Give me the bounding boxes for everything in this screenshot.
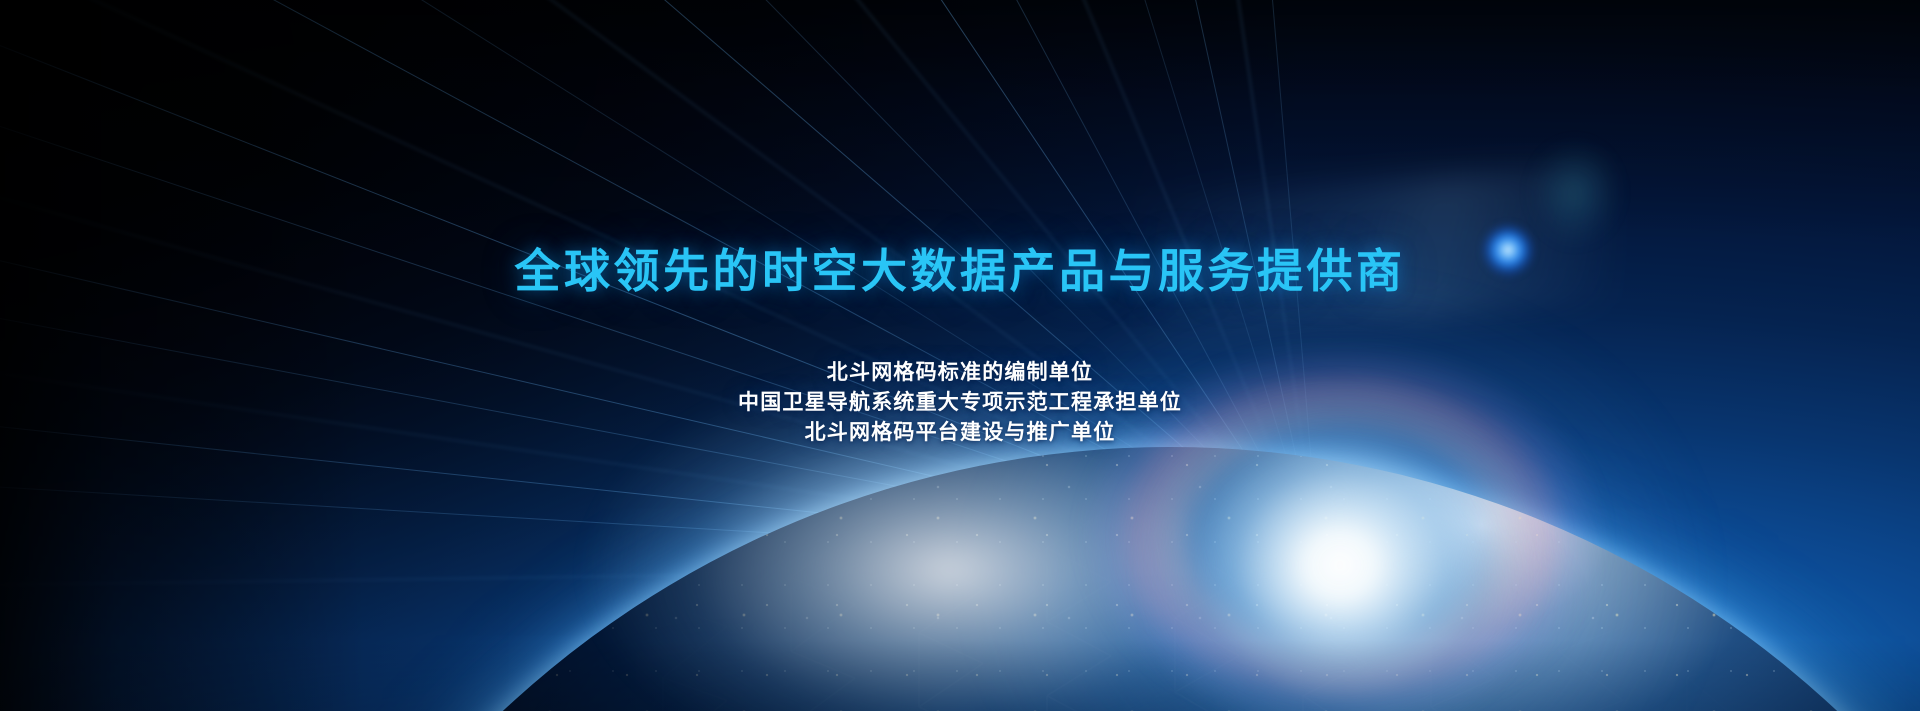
subtitle-line-3: 北斗网格码平台建设与推广单位 [0, 418, 1920, 448]
page-title: 全球领先的时空大数据产品与服务提供商 [0, 248, 1920, 294]
subtitle-line-2: 中国卫星导航系统重大专项示范工程承担单位 [0, 388, 1920, 418]
hero-banner: 全球领先的时空大数据产品与服务提供商 北斗网格码标准的编制单位 中国卫星导航系统… [0, 0, 1920, 711]
subtitle-line-1: 北斗网格码标准的编制单位 [0, 358, 1920, 388]
subtitle-group: 北斗网格码标准的编制单位 中国卫星导航系统重大专项示范工程承担单位 北斗网格码平… [0, 358, 1920, 448]
